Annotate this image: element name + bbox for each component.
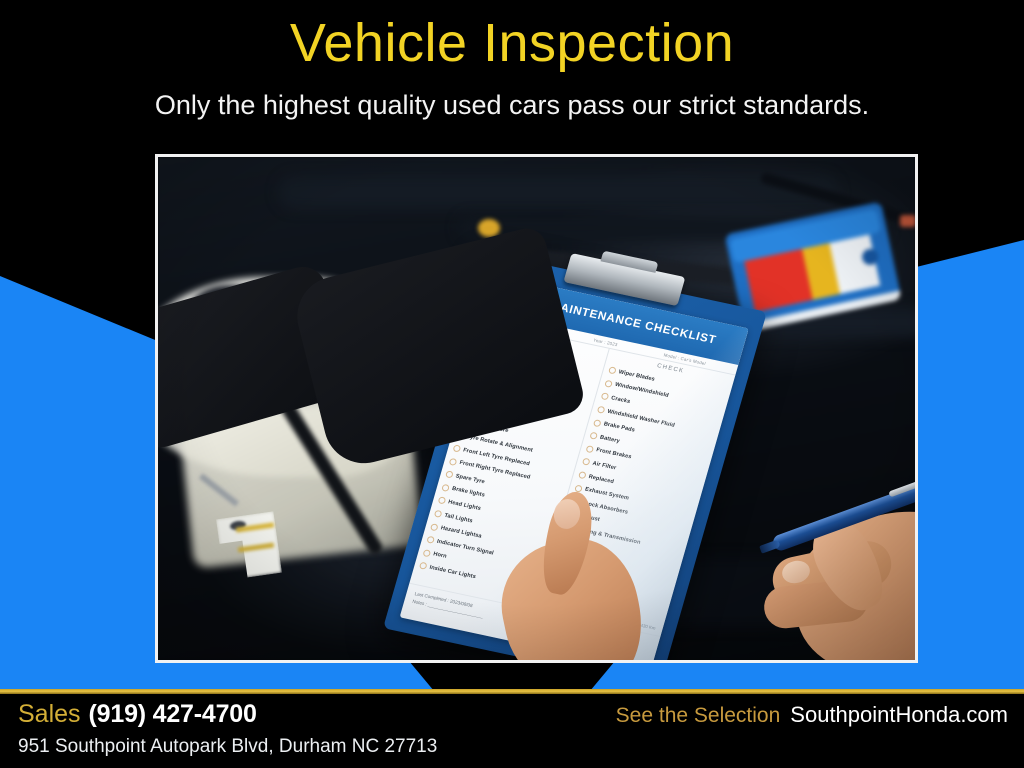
engine-part <box>278 175 838 209</box>
checkbox-bubble-icon[interactable] <box>608 367 617 375</box>
checklist-item-label: Horn <box>432 552 447 561</box>
page-subtitle: Only the highest quality used cars pass … <box>0 70 1024 119</box>
checkbox-bubble-icon[interactable] <box>449 457 458 465</box>
engine-bay-photo: CAR MAINTENANCE CHECKLIST Made in : USA … <box>158 157 915 660</box>
website-link[interactable]: SouthpointHonda.com <box>790 702 1008 728</box>
checkbox-bubble-icon[interactable] <box>585 445 594 453</box>
sales-label: Sales <box>18 700 81 729</box>
checkbox-bubble-icon[interactable] <box>419 562 428 570</box>
header: Vehicle Inspection Only the highest qual… <box>0 0 1024 119</box>
website-contact: See the Selection SouthpointHonda.com <box>616 702 1008 728</box>
hero-photo-frame: CAR MAINTENANCE CHECKLIST Made in : USA … <box>155 154 918 663</box>
checklist-item-label: Replaced <box>588 474 615 485</box>
checkbox-bubble-icon[interactable] <box>445 471 454 479</box>
checkbox-bubble-icon[interactable] <box>441 484 450 492</box>
cta-label: See the Selection <box>616 704 781 728</box>
checklist-item-label: Air Filter <box>592 461 617 472</box>
checklist-item-label: Battery <box>599 434 620 444</box>
checkbox-bubble-icon[interactable] <box>437 497 446 505</box>
checkbox-bubble-icon[interactable] <box>430 523 439 531</box>
checkbox-bubble-icon[interactable] <box>452 444 461 452</box>
checkbox-bubble-icon[interactable] <box>422 549 431 557</box>
checkbox-bubble-icon[interactable] <box>593 419 602 427</box>
checklist-item-label: Cracks <box>610 395 631 405</box>
left-hand <box>488 487 678 660</box>
sales-phone[interactable]: (919) 427-4700 <box>89 700 257 729</box>
checkbox-bubble-icon[interactable] <box>597 406 606 414</box>
battery-clamp <box>900 215 915 227</box>
checkbox-bubble-icon[interactable] <box>604 380 613 388</box>
checkbox-bubble-icon[interactable] <box>600 393 609 401</box>
checkbox-bubble-icon[interactable] <box>426 536 435 544</box>
page-title: Vehicle Inspection <box>0 0 1024 70</box>
dealer-address: 951 Southpoint Autopark Blvd, Durham NC … <box>18 736 437 758</box>
footer: Sales (919) 427-4700 951 Southpoint Auto… <box>0 694 1024 768</box>
checkbox-bubble-icon[interactable] <box>589 432 598 440</box>
checkbox-bubble-icon[interactable] <box>434 510 443 518</box>
checkbox-bubble-icon[interactable] <box>578 471 587 479</box>
checkbox-bubble-icon[interactable] <box>582 458 591 466</box>
sales-contact: Sales (919) 427-4700 <box>18 700 257 729</box>
